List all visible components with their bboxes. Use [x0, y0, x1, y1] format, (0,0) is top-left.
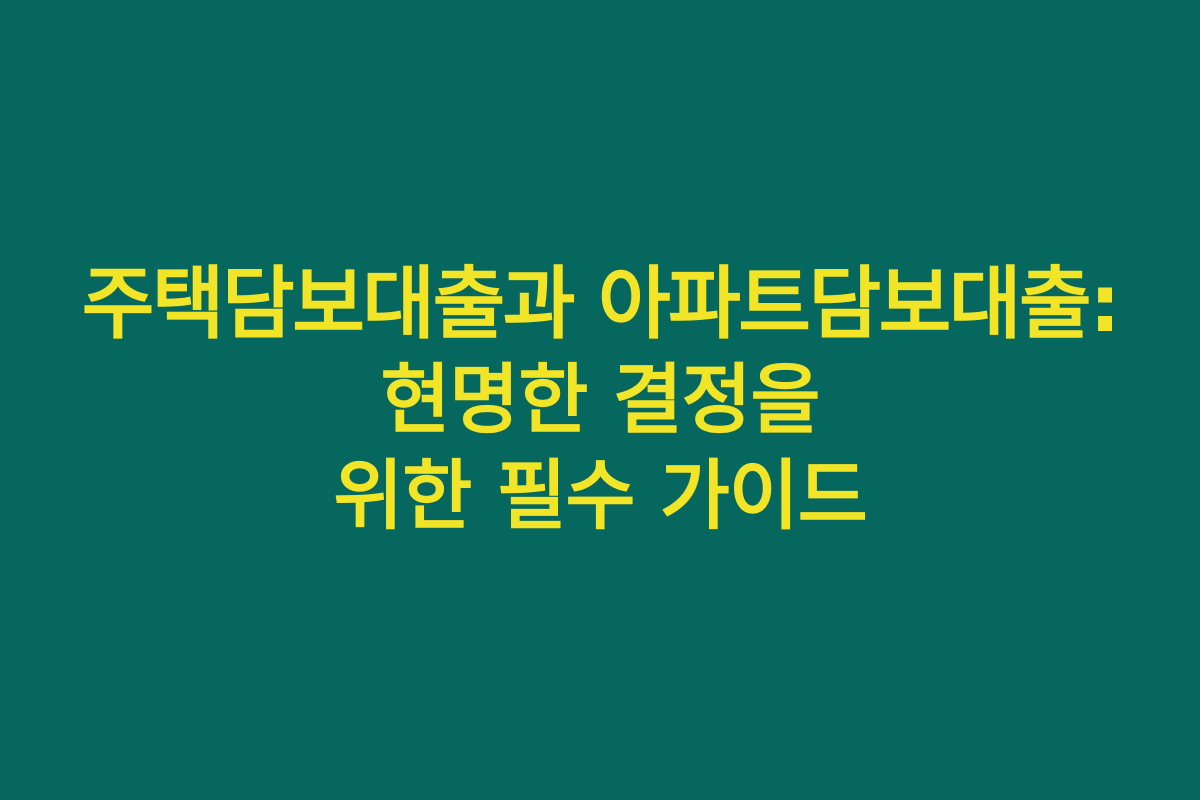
title-line-1: 주택담보대출과 아파트담보대출:	[0, 256, 1200, 352]
page-title: 주택담보대출과 아파트담보대출: 현명한 결정을 위한 필수 가이드	[0, 256, 1200, 544]
title-card: 주택담보대출과 아파트담보대출: 현명한 결정을 위한 필수 가이드	[0, 0, 1200, 800]
title-line-2: 현명한 결정을	[0, 352, 1200, 448]
title-line-3: 위한 필수 가이드	[0, 448, 1200, 544]
